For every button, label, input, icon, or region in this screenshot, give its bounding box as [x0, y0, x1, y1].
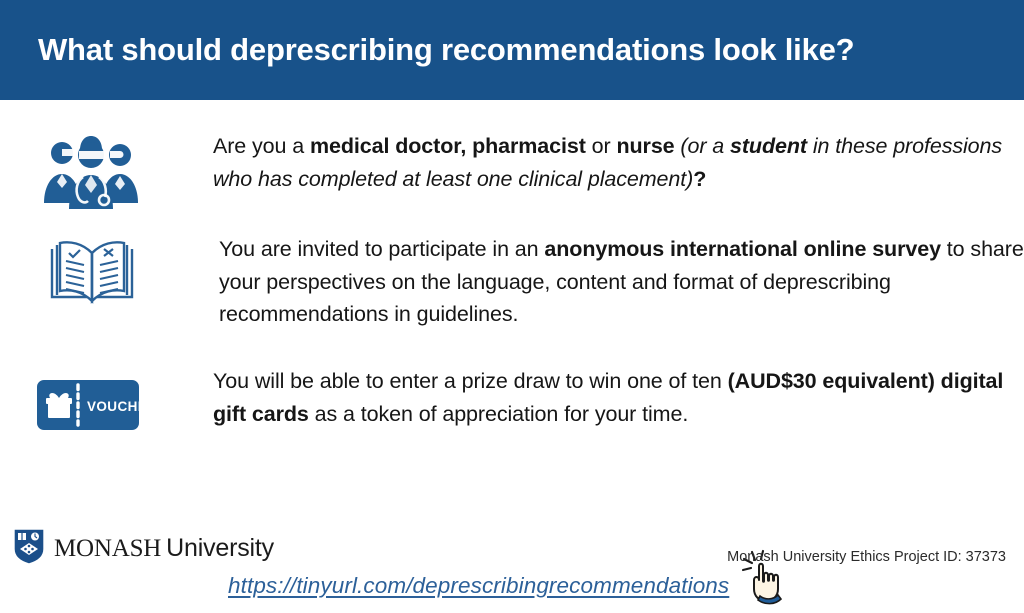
icon-cell-voucher: VOUCHER: [0, 365, 213, 436]
segment-text-bold: ?: [693, 167, 706, 191]
monash-logo-primary: MONASH: [54, 535, 161, 562]
header-bar: What should deprescribing recommendation…: [0, 0, 1024, 100]
info-row-survey: You are invited to participate in an ano…: [0, 233, 1024, 331]
monash-logo: MONASHUniversity: [12, 527, 274, 570]
icon-cell-professionals: [0, 130, 213, 217]
footer: MONASHUniversity Monash University Ethic…: [0, 520, 1024, 576]
segment-text: or: [586, 134, 617, 158]
segment-text-bold: nurse: [616, 134, 674, 158]
monash-logo-wordmark: MONASHUniversity: [54, 534, 274, 563]
content-area: Are you a medical doctor, pharmacist or …: [0, 100, 1024, 520]
segment-text-bold: medical doctor, pharmacist: [310, 134, 586, 158]
info-row-prize: VOUCHER You will be able to enter a priz…: [0, 365, 1024, 436]
segment-text-italic: (or a: [680, 134, 730, 158]
segment-text: You will be able to enter a prize draw t…: [213, 369, 728, 393]
info-row-professionals: Are you a medical doctor, pharmacist or …: [0, 130, 1024, 217]
segment-text: You are invited to participate in an: [219, 237, 544, 261]
segment-text-bold: anonymous international online survey: [544, 237, 941, 261]
open-book-icon: [42, 233, 142, 316]
segment-text: Are you a: [213, 134, 310, 158]
info-text-prize: You will be able to enter a prize draw t…: [213, 365, 1024, 430]
segment-text: as a token of appreciation for your time…: [309, 402, 688, 426]
monash-logo-secondary: University: [166, 534, 274, 562]
page-title: What should deprescribing recommendation…: [38, 33, 854, 67]
ethics-project-id: Monash University Ethics Project ID: 373…: [727, 549, 1006, 565]
info-text-professionals: Are you a medical doctor, pharmacist or …: [213, 130, 1024, 195]
healthcare-professionals-icon: [36, 130, 146, 217]
info-text-survey: You are invited to participate in an ano…: [219, 233, 1024, 331]
voucher-icon: VOUCHER: [36, 379, 140, 436]
survey-link[interactable]: https://tinyurl.com/deprescribingrecomme…: [228, 573, 729, 599]
segment-text-bold-italic: student: [730, 134, 807, 158]
voucher-icon-label: VOUCHER: [87, 399, 140, 414]
icon-cell-book: [0, 233, 219, 316]
monash-shield-icon: [12, 527, 46, 570]
